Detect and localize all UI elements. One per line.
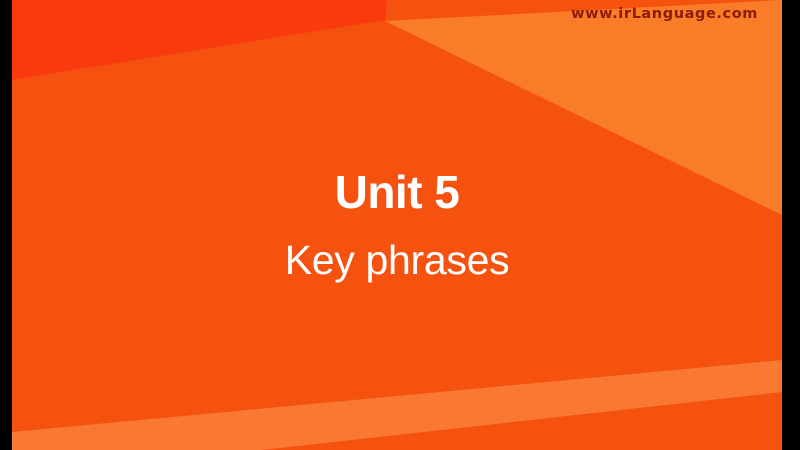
background-shape-bottom-stripe	[12, 0, 782, 450]
watermark-text: www.irLanguage.com	[571, 6, 758, 22]
letterbox-bar-left	[0, 0, 12, 450]
slide-canvas: www.irLanguage.com Unit 5 Key phrases	[0, 0, 800, 450]
slide-artwork-stage: www.irLanguage.com Unit 5 Key phrases	[12, 0, 782, 450]
letterbox-bar-right	[782, 0, 800, 450]
